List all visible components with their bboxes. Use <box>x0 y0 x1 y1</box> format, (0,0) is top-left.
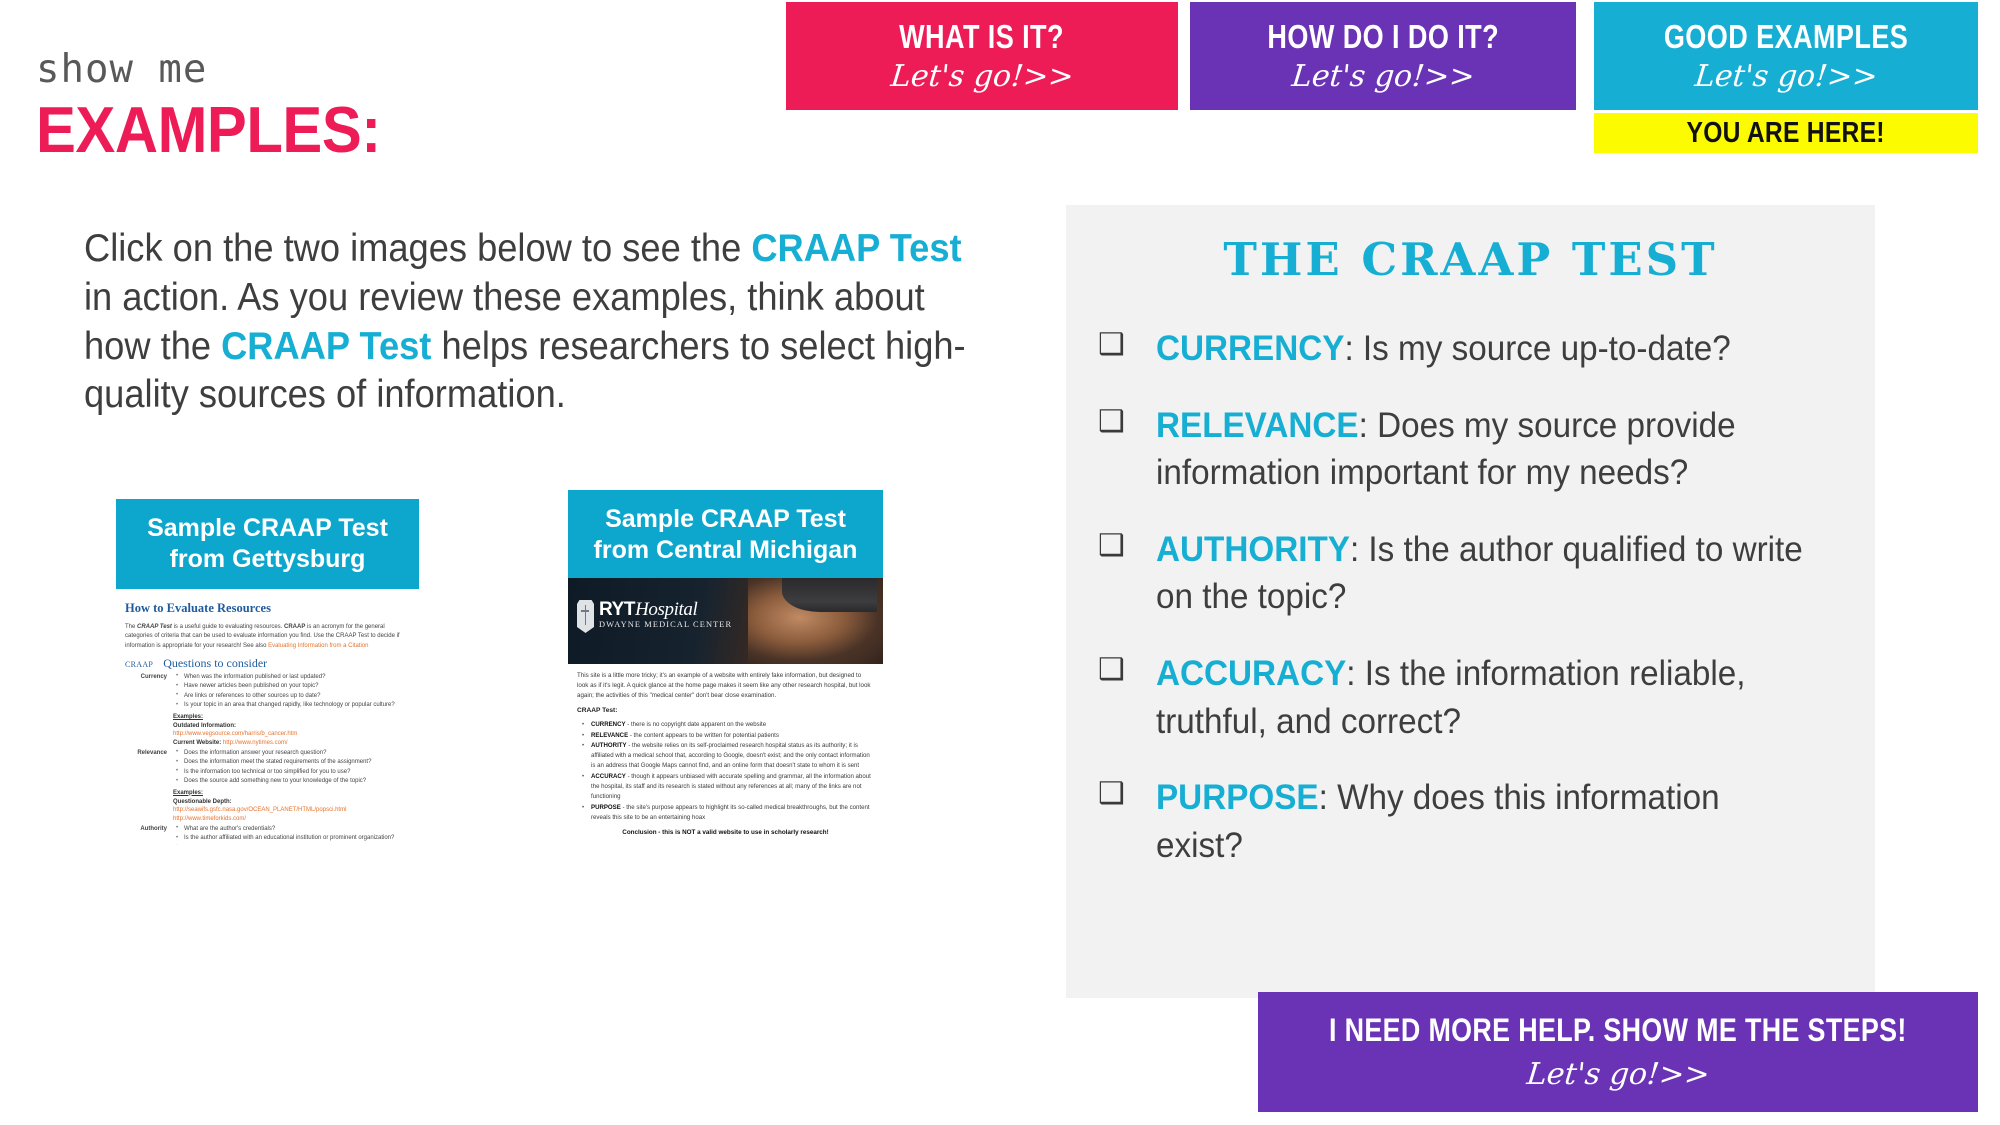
list-item: Can you find information about the autho… <box>184 844 400 845</box>
gettysburg-document: How to Evaluate Resources The CRAAP Test… <box>116 589 419 845</box>
bullet-key: RELEVANCE <box>591 732 628 739</box>
thumbnail-central-michigan[interactable]: Sample CRAAP Test from Central Michigan … <box>568 490 883 852</box>
intro-highlight-craap-test-1: CRAAP Test <box>751 227 961 270</box>
craap-panel-heading: THE CRAAP TEST <box>1066 233 1875 286</box>
checkbox-icon[interactable]: ❑ <box>1098 774 1156 869</box>
examples-label: Examples: <box>173 790 410 796</box>
cta-show-me-the-steps[interactable]: I NEED MORE HELP. SHOW ME THE STEPS! Let… <box>1258 992 1978 1112</box>
bullet-key: PURPOSE <box>591 804 621 811</box>
ryt-hospital-logo: RYTHospital DWAYNE MEDICAL CENTER <box>577 600 732 633</box>
ryt-logo-bold: RYT <box>599 599 635 620</box>
ryt-logo-text: RYTHospital DWAYNE MEDICAL CENTER <box>599 600 732 629</box>
intro-paragraph: Click on the two images below to see the… <box>84 225 968 420</box>
list-item: AUTHORITY - the website relies on its se… <box>591 741 874 771</box>
list-item: ACCURACY - though it appears unbiased wi… <box>591 772 874 802</box>
thumbnail-gettysburg-banner: Sample CRAAP Test from Gettysburg <box>116 499 419 589</box>
gettysburg-currency-examples: Examples: Outdated Information: http://w… <box>173 714 410 746</box>
gettysburg-category-relevance: Relevance <box>125 749 173 787</box>
page-title: EXAMPLES: <box>36 92 381 167</box>
craap-key-currency: CURRENCY <box>1156 329 1344 368</box>
craap-item-relevance-text: RELEVANCE: Does my source provide inform… <box>1156 402 1814 497</box>
list-item: Is the information too technical or too … <box>184 768 371 777</box>
list-item: When was the information published or la… <box>184 673 395 682</box>
list-item: Have newer articles been published on yo… <box>184 682 395 691</box>
gettysburg-intro-c: is a useful guide to evaluating resource… <box>172 624 284 630</box>
gettysburg-authority-bullets: What are the author's credentials? Is th… <box>173 825 400 845</box>
ryt-hospital-banner-image: RYTHospital DWAYNE MEDICAL CENTER <box>568 578 883 664</box>
craap-key-authority: AUTHORITY <box>1156 530 1350 569</box>
gettysburg-intro-d: CRAAP <box>284 624 305 630</box>
examples-label: Examples: <box>173 714 410 720</box>
michigan-document: This site is a little more tricky; it's … <box>568 664 883 836</box>
intro-text-part1: Click on the two images below to see the <box>84 227 751 270</box>
craap-item-authority-text: AUTHORITY: Is the author qualified to wr… <box>1156 526 1814 621</box>
gettysburg-table-title: Questions to consider <box>163 656 267 671</box>
nav-button-what-is-it-label: WHAT IS IT? <box>900 20 1065 53</box>
list-item: Is the author affiliated with an educati… <box>184 834 400 843</box>
checkbox-icon[interactable]: ❑ <box>1098 650 1156 745</box>
craap-item-purpose: ❑ PURPOSE: Why does this information exi… <box>1098 774 1849 869</box>
thumbnail-gettysburg-banner-line2: from Gettysburg <box>124 544 411 575</box>
thumbnail-michigan-banner-line2: from Central Michigan <box>576 535 875 566</box>
craap-key-relevance: RELEVANCE <box>1156 406 1359 445</box>
surgical-cap-shape <box>782 578 877 612</box>
list-item: PURPOSE - the site's purpose appears to … <box>591 803 874 823</box>
list-item: Are links or references to other sources… <box>184 692 395 701</box>
ryt-logo-subtitle: DWAYNE MEDICAL CENTER <box>599 620 732 629</box>
gettysburg-currency-bullets: When was the information published or la… <box>173 673 395 711</box>
checkbox-icon[interactable]: ❑ <box>1098 402 1156 497</box>
thumbnail-michigan-banner-line1: Sample CRAAP Test <box>576 504 875 535</box>
list-item: Is your topic in an area that changed ra… <box>184 701 395 710</box>
nav-button-how-do-i-do-it-cta: Let's go!>> <box>1290 62 1476 92</box>
page-kicker: show me <box>36 47 207 92</box>
bullet-key: AUTHORITY <box>591 742 627 749</box>
craap-item-purpose-text: PURPOSE: Why does this information exist… <box>1156 774 1814 869</box>
ryt-logo-italic: Hospital <box>635 599 697 620</box>
craap-checklist: ❑ CURRENCY: Is my source up-to-date? ❑ R… <box>1098 325 1849 898</box>
list-item: CURRENCY - there is no copyright date ap… <box>591 720 874 730</box>
checkbox-icon[interactable]: ❑ <box>1098 325 1156 373</box>
nav-button-what-is-it[interactable]: WHAT IS IT? Let's go!>> <box>786 2 1178 110</box>
gettysburg-table-header: CRAAP Questions to consider <box>125 656 410 671</box>
list-item: Does the information meet the stated req… <box>184 758 371 767</box>
thumbnail-michigan-banner: Sample CRAAP Test from Central Michigan <box>568 490 883 578</box>
gettysburg-intro-link[interactable]: Evaluating Information from a Citation <box>268 643 368 649</box>
nav-button-good-examples[interactable]: GOOD EXAMPLES Let's go!>> <box>1594 2 1978 110</box>
gettysburg-table-label: CRAAP <box>125 660 153 669</box>
gettysburg-doc-heading: How to Evaluate Resources <box>125 601 410 616</box>
example-title: Outdated Information: <box>173 723 410 729</box>
nav-button-how-do-i-do-it-label: HOW DO I DO IT? <box>1267 20 1499 53</box>
craap-item-accuracy: ❑ ACCURACY: Is the information reliable,… <box>1098 650 1849 745</box>
example-url[interactable]: http://www.timeforkids.com/ <box>173 816 410 822</box>
bullet-key: ACCURACY <box>591 773 626 780</box>
hospital-shield-icon <box>577 600 594 633</box>
bullet-text: - there is no copyright date apparent on… <box>626 721 767 728</box>
example-title: Current Website: http://www.nytimes.com/ <box>173 740 410 746</box>
example-url[interactable]: http://www.vegsource.com/harris/b_cancer… <box>173 731 410 737</box>
example-title-text: Current Website: <box>173 740 221 746</box>
craap-question-currency: : Is my source up-to-date? <box>1344 329 1730 368</box>
bullet-text: - the website relies on its self-proclai… <box>591 742 870 769</box>
list-item: RELEVANCE - the content appears to be wr… <box>591 731 874 741</box>
michigan-doc-paragraph: This site is a little more tricky; it's … <box>577 671 874 701</box>
list-item: Does the source add something new to you… <box>184 777 371 786</box>
nav-button-good-examples-cta: Let's go!>> <box>1693 62 1879 92</box>
gettysburg-relevance-bullets: Does the information answer your researc… <box>173 749 371 787</box>
gettysburg-section-relevance: Relevance Does the information answer yo… <box>125 749 410 787</box>
cta-show-me-the-steps-script: Let's go!>> <box>1525 1057 1711 1092</box>
gettysburg-intro-b: CRAAP Test <box>137 624 172 630</box>
bullet-text: - the content appears to be written for … <box>628 732 779 739</box>
nav-button-how-do-i-do-it[interactable]: HOW DO I DO IT? Let's go!>> <box>1190 2 1576 110</box>
craap-item-accuracy-text: ACCURACY: Is the information reliable, t… <box>1156 650 1814 745</box>
list-item: What are the author's credentials? <box>184 825 400 834</box>
craap-key-purpose: PURPOSE <box>1156 778 1319 817</box>
intro-highlight-craap-test-2: CRAAP Test <box>221 325 431 368</box>
craap-item-authority: ❑ AUTHORITY: Is the author qualified to … <box>1098 526 1849 621</box>
bullet-text: - the site's purpose appears to highligh… <box>591 804 870 821</box>
gettysburg-relevance-examples: Examples: Questionable Depth: http://sea… <box>173 790 410 822</box>
cta-show-me-the-steps-label: I NEED MORE HELP. SHOW ME THE STEPS! <box>1329 1012 1907 1049</box>
example-url[interactable]: http://www.nytimes.com/ <box>223 740 288 746</box>
michigan-craap-bullets: CURRENCY - there is no copyright date ap… <box>577 720 874 823</box>
gettysburg-section-currency: Currency When was the information publis… <box>125 673 410 711</box>
craap-key-accuracy: ACCURACY <box>1156 654 1346 693</box>
list-item: Does the information answer your researc… <box>184 749 371 758</box>
bullet-text: - though it appears unbiased with accura… <box>591 773 871 800</box>
gettysburg-category-authority: Authority <box>125 825 173 845</box>
craap-item-currency: ❑ CURRENCY: Is my source up-to-date? <box>1098 325 1849 373</box>
bullet-key: CURRENCY <box>591 721 626 728</box>
nav-button-what-is-it-cta: Let's go!>> <box>889 62 1075 92</box>
checkbox-icon[interactable]: ❑ <box>1098 526 1156 621</box>
you-are-here-badge: YOU ARE HERE! <box>1594 113 1978 153</box>
craap-item-currency-text: CURRENCY: Is my source up-to-date? <box>1156 325 1731 373</box>
gettysburg-section-authority: Authority What are the author's credenti… <box>125 825 410 845</box>
gettysburg-doc-intro: The CRAAP Test is a useful guide to eval… <box>125 623 410 651</box>
michigan-conclusion: Conclusion - this is NOT a valid website… <box>577 829 874 836</box>
example-url[interactable]: http://seawifs.gsfc.nasa.gov/OCEAN_PLANE… <box>173 807 410 813</box>
nav-button-good-examples-label: GOOD EXAMPLES <box>1664 20 1908 53</box>
craap-test-panel: THE CRAAP TEST ❑ CURRENCY: Is my source … <box>1066 205 1875 998</box>
you-are-here-label: YOU ARE HERE! <box>1687 117 1885 150</box>
thumbnail-gettysburg[interactable]: Sample CRAAP Test from Gettysburg How to… <box>116 499 419 845</box>
craap-item-relevance: ❑ RELEVANCE: Does my source provide info… <box>1098 402 1849 497</box>
gettysburg-category-currency: Currency <box>125 673 173 711</box>
example-title: Questionable Depth: <box>173 799 410 805</box>
gettysburg-intro-a: The <box>125 624 137 630</box>
michigan-craap-label: CRAAP Test: <box>577 707 874 714</box>
thumbnail-gettysburg-banner-line1: Sample CRAAP Test <box>124 513 411 544</box>
